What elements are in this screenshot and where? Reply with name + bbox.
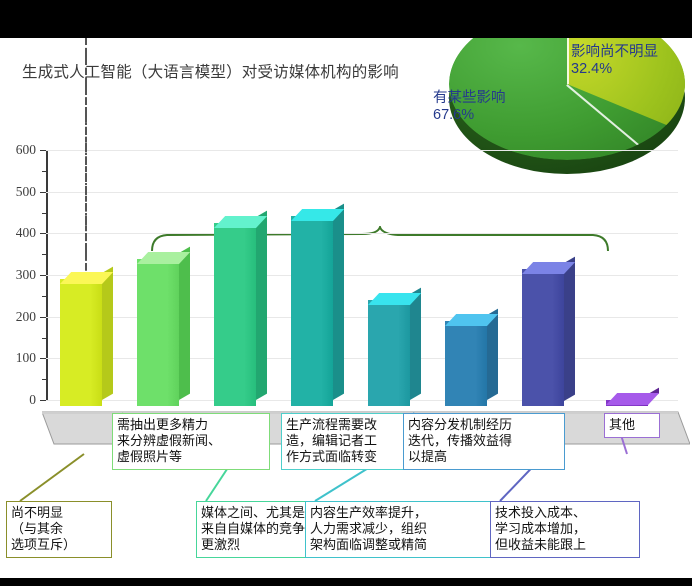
pie-label-some-impact-pct: 67.6%	[433, 107, 506, 124]
y-axis-tick-mark	[40, 192, 46, 193]
bar-front-face	[368, 300, 410, 406]
gridline	[46, 150, 678, 151]
bar-front-face	[214, 223, 256, 406]
gridline	[46, 192, 678, 193]
annotation-a1[interactable]: 尚不明显 （与其余 选项互斥）	[6, 501, 112, 558]
annotation-a7[interactable]: 技术投入成本、 学习成本增加， 但收益未能跟上	[490, 501, 640, 558]
y-axis-tick-label: 600	[2, 142, 36, 158]
y-axis-tick-mark	[40, 233, 46, 234]
y-axis-tick-mark	[40, 150, 46, 151]
bar-5[interactable]	[368, 300, 410, 406]
bar-3[interactable]	[214, 223, 256, 406]
y-axis-tick-label: 200	[2, 309, 36, 325]
bar-front-face	[60, 279, 102, 406]
pie-label-unclear-impact-pct: 32.4%	[571, 61, 658, 78]
pie-label-unclear-impact: 影响尚不明显 32.4%	[571, 44, 658, 79]
y-axis-tick-mark	[40, 358, 46, 359]
chart-canvas: 生成式人工智能（大语言模型）对受访媒体机构的影响 有某些影响 67.6% 影响尚…	[0, 38, 692, 578]
bar-side-face	[179, 247, 190, 400]
bar-side-face	[102, 267, 113, 400]
annotation-a5[interactable]: 内容生产效率提升， 人力需求减少，组织 架构面临调整或精简	[305, 501, 501, 558]
bar-side-face	[333, 204, 344, 400]
bar-2[interactable]	[137, 259, 179, 406]
leader-line-a1	[17, 453, 87, 502]
y-axis-minor-tick	[42, 213, 46, 214]
annotation-a2[interactable]: 需抽出更多精力 来分辨虚假新闻、 虚假照片等	[112, 413, 270, 470]
y-axis-minor-tick	[42, 254, 46, 255]
y-axis-tick-label: 300	[2, 267, 36, 283]
bar-1[interactable]	[60, 279, 102, 406]
bar-6[interactable]	[445, 321, 487, 406]
bar-front-face	[137, 259, 179, 406]
y-axis-tick-label: 0	[2, 392, 36, 408]
y-axis-tick-mark	[40, 275, 46, 276]
screenshot-root: 生成式人工智能（大语言模型）对受访媒体机构的影响 有某些影响 67.6% 影响尚…	[0, 0, 692, 586]
pie-divider-top	[567, 38, 569, 84]
gridline	[46, 233, 678, 234]
annotation-a6[interactable]: 内容分发机制经历 迭代，传播效益得 以提高	[403, 413, 565, 470]
bar-4[interactable]	[291, 216, 333, 406]
y-axis-tick-label: 100	[2, 350, 36, 366]
pie-label-some-impact-text: 有某些影响	[433, 90, 506, 107]
y-axis-tick-mark	[40, 317, 46, 318]
bar-side-face	[256, 210, 267, 400]
y-axis-tick-label: 400	[2, 225, 36, 241]
y-axis-tick-label: 500	[2, 184, 36, 200]
bar-8[interactable]	[606, 400, 648, 406]
bar-side-face	[564, 256, 575, 400]
y-axis-minor-tick	[42, 171, 46, 172]
y-axis-minor-tick	[42, 338, 46, 339]
bar-side-face	[410, 287, 421, 400]
y-axis-minor-tick	[42, 379, 46, 380]
bar-front-face	[445, 321, 487, 406]
pie-label-some-impact: 有某些影响 67.6%	[433, 90, 506, 125]
bar-front-face	[291, 216, 333, 406]
pie-label-unclear-impact-text: 影响尚不明显	[571, 44, 658, 61]
bar-front-face	[522, 269, 564, 407]
annotation-a8[interactable]: 其他	[604, 413, 660, 438]
bar-7[interactable]	[522, 269, 564, 407]
y-axis-minor-tick	[42, 296, 46, 297]
